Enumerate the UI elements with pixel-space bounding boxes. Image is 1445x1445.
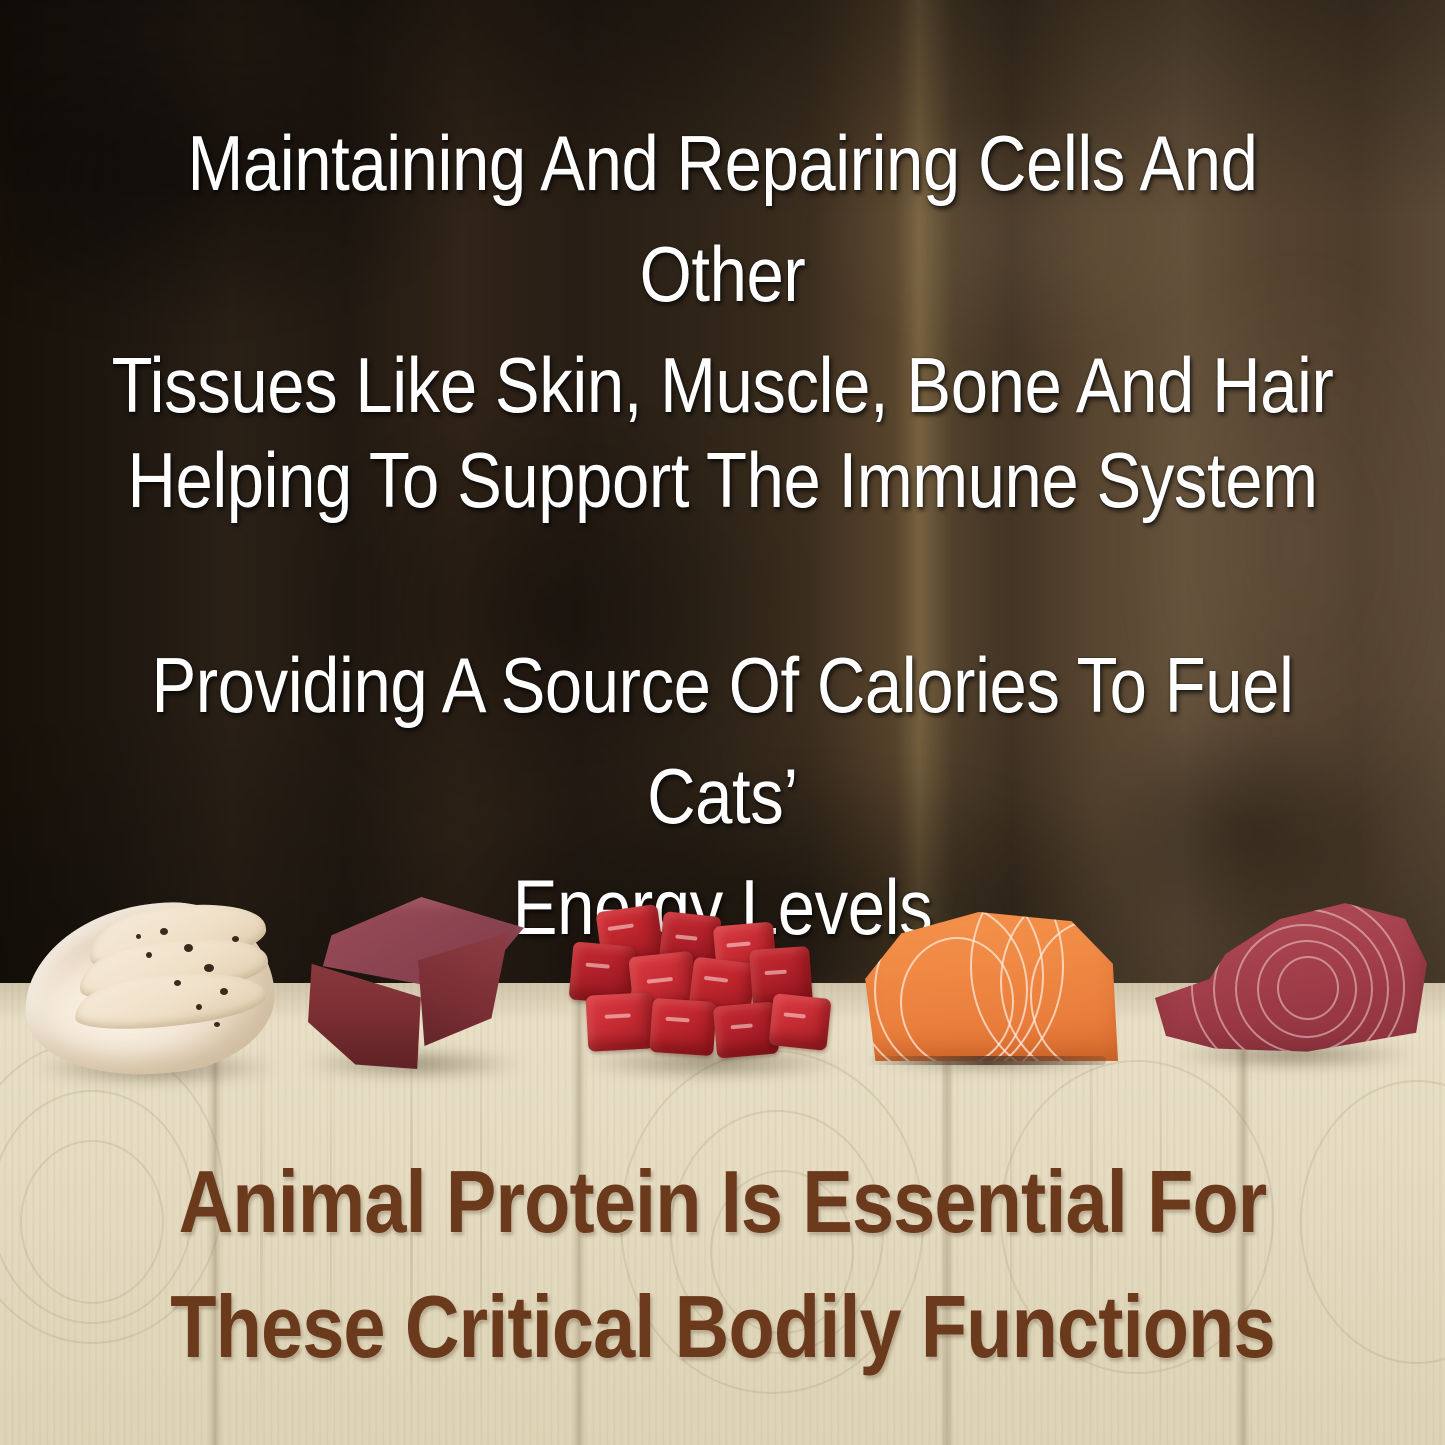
pepper-fleck <box>196 1004 202 1010</box>
salmon-body <box>860 909 1118 1061</box>
pepper-fleck <box>174 980 181 986</box>
salmon-skin <box>866 1056 1106 1065</box>
pepper-fleck <box>184 944 193 952</box>
pepper-fleck <box>160 928 168 935</box>
tuna-grain-ring <box>1277 956 1339 1020</box>
benefit-text-maintain-repair: Maintaining And Repairing Cells And Othe… <box>101 108 1344 440</box>
beef-cube <box>649 998 717 1056</box>
tuna-body <box>1155 900 1427 1058</box>
food-item-liver-block <box>288 895 538 1075</box>
food-item-chicken-breast <box>18 892 280 1082</box>
pepper-fleck <box>204 964 214 972</box>
pepper-fleck <box>220 988 228 995</box>
footer-headline: Animal Protein Is Essential For These Cr… <box>101 1140 1344 1390</box>
pepper-fleck <box>136 934 141 939</box>
pepper-fleck <box>146 952 152 958</box>
food-item-tuna-steak <box>1155 900 1427 1072</box>
food-item-salmon-fillet <box>860 905 1118 1075</box>
benefit-text-immune-support: Helping To Support The Immune System <box>101 425 1344 536</box>
pepper-fleck <box>232 936 239 942</box>
beef-cube <box>586 992 655 1051</box>
promo-banner: Maintaining And Repairing Cells And Othe… <box>0 0 1445 1445</box>
beef-cube <box>768 993 831 1051</box>
food-item-beef-cubes <box>565 900 855 1078</box>
pepper-fleck <box>214 1022 220 1027</box>
